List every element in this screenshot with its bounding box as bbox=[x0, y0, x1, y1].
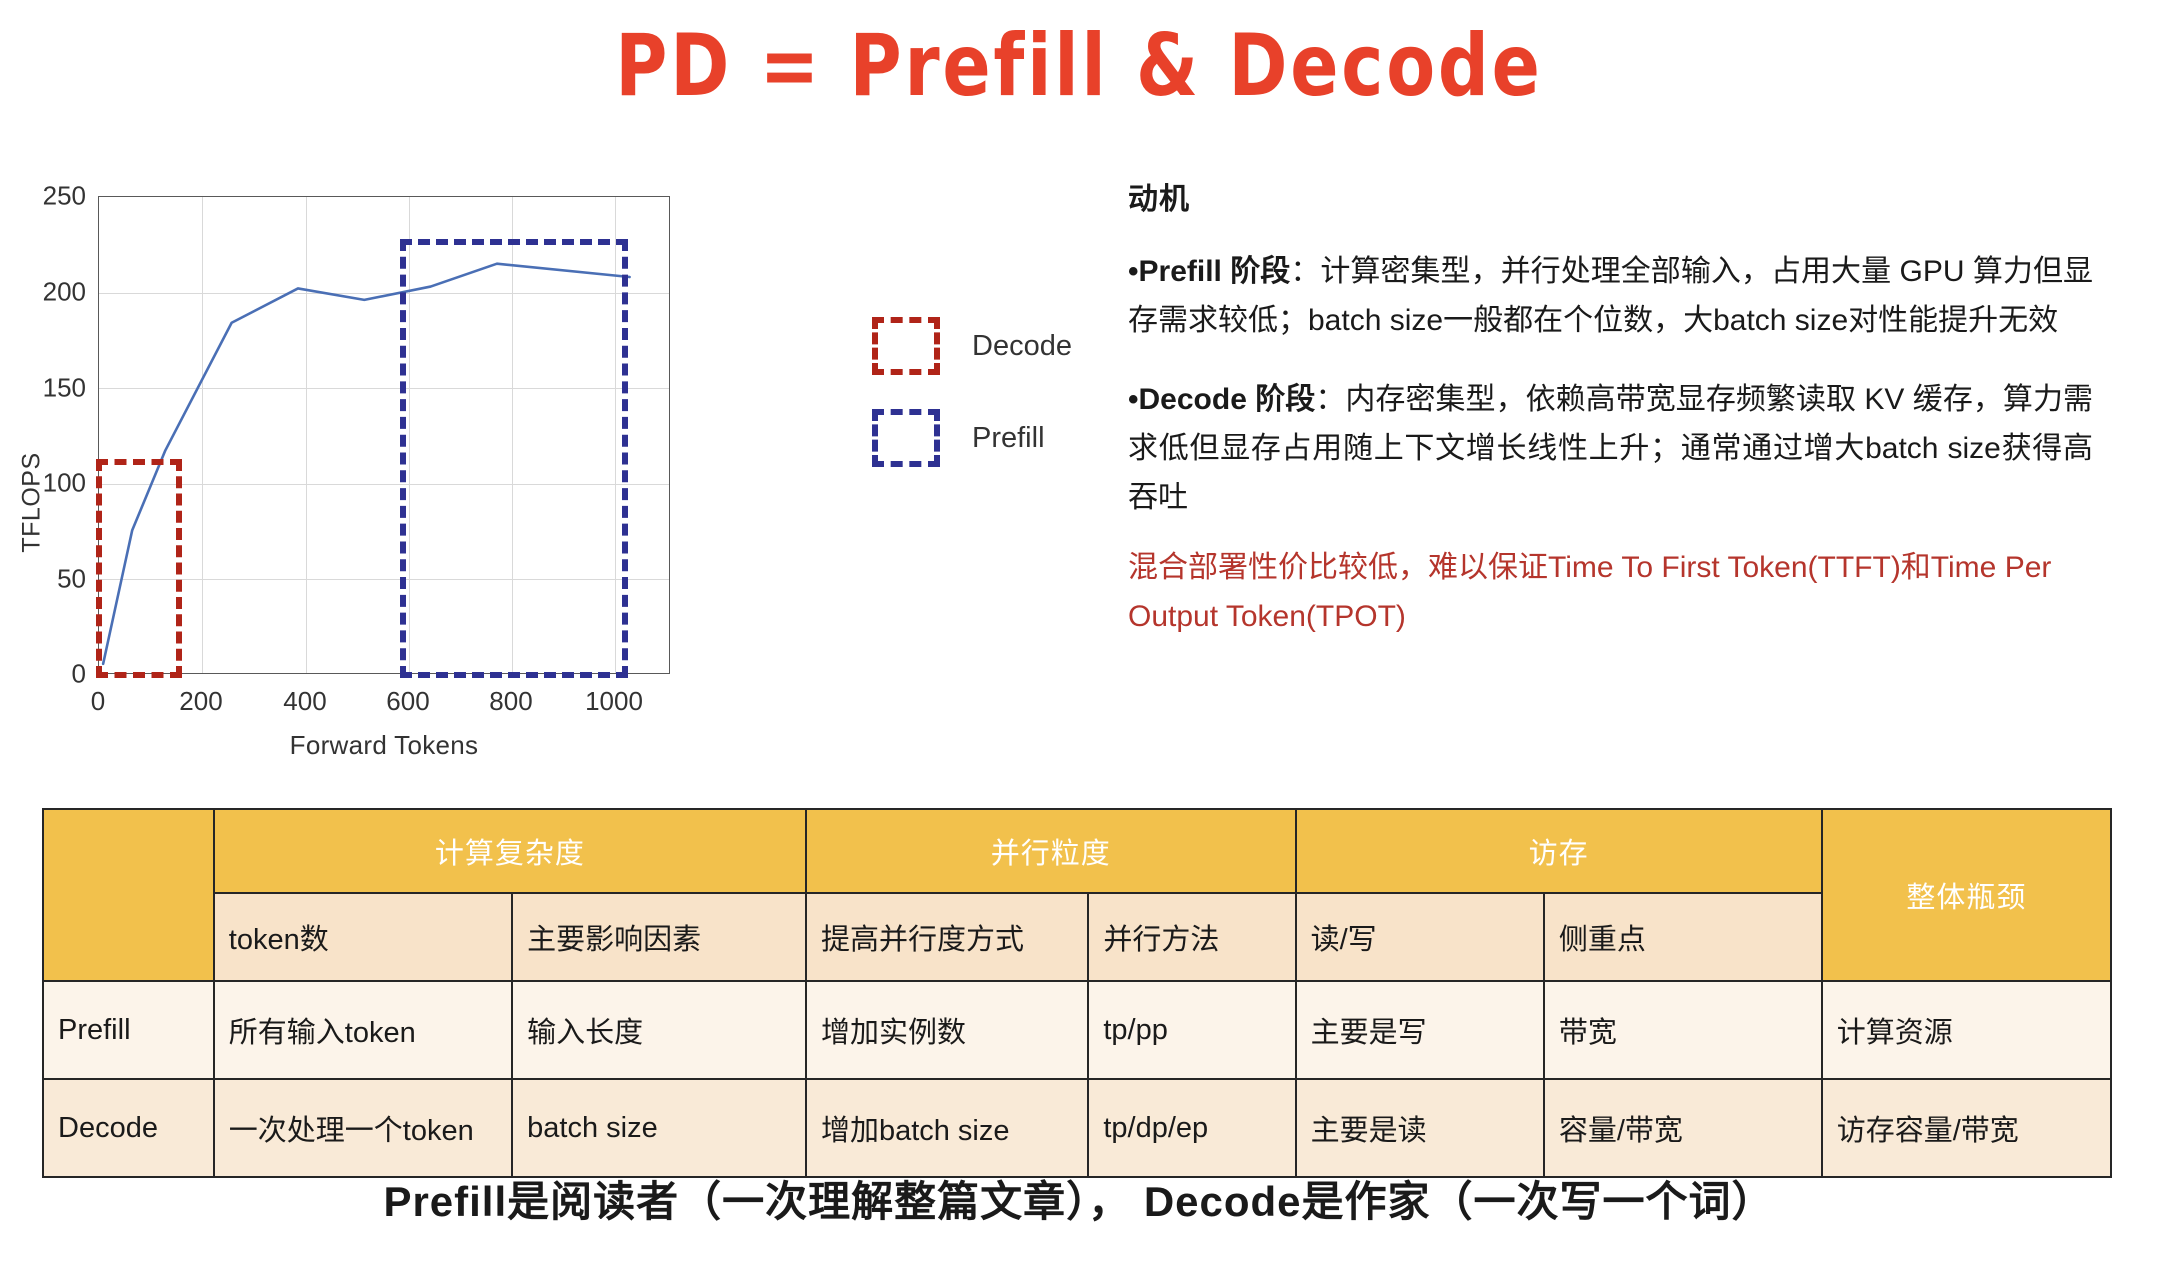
table-row: Prefill 所有输入token 输入长度 增加实例数 tp/pp 主要是写 … bbox=[43, 981, 2111, 1079]
group-header-bottleneck: 整体瓶颈 bbox=[1822, 809, 2111, 981]
bullet-prefill: •Prefill 阶段：计算密集型，并行处理全部输入，占用大量 GPU 算力但显… bbox=[1128, 248, 2093, 346]
chart-plot-area bbox=[98, 196, 670, 674]
motivation-heading: 动机 bbox=[1128, 174, 2093, 218]
sub-header-parallel-method: 并行方法 bbox=[1088, 893, 1295, 981]
x-tick-200: 200 bbox=[179, 686, 222, 717]
sub-header-focus: 侧重点 bbox=[1544, 893, 1822, 981]
group-header-parallel: 并行粒度 bbox=[806, 809, 1296, 893]
cell-decode-bottleneck: 访存容量/带宽 bbox=[1822, 1079, 2111, 1177]
x-tick-800: 800 bbox=[489, 686, 532, 717]
x-tick-400: 400 bbox=[283, 686, 326, 717]
sub-header-main-factor: 主要影响因素 bbox=[512, 893, 806, 981]
legend-label-decode: Decode bbox=[972, 330, 1072, 363]
sub-header-read-write: 读/写 bbox=[1296, 893, 1544, 981]
table-row: Decode 一次处理一个token batch size 增加batch si… bbox=[43, 1079, 2111, 1177]
cell-prefill-parallel-way: 增加实例数 bbox=[806, 981, 1088, 1079]
prefill-swatch-icon bbox=[872, 409, 940, 467]
warning-note: 混合部署性价比较低，难以保证Time To First Token(TTFT)和… bbox=[1128, 544, 2093, 642]
x-tick-0: 0 bbox=[91, 686, 105, 717]
chart-x-axis-label: Forward Tokens bbox=[98, 730, 670, 761]
cell-decode-token-count: 一次处理一个token bbox=[214, 1079, 512, 1177]
chart-y-ticks: 250 200 150 100 50 0 bbox=[20, 178, 86, 698]
prefill-decode-comparison-table: 计算复杂度 并行粒度 访存 整体瓶颈 token数 主要影响因素 提高并行度方式… bbox=[42, 808, 2112, 1178]
x-tick-1000: 1000 bbox=[585, 686, 643, 717]
chart-legend: Decode Prefill bbox=[872, 300, 1102, 484]
legend-item-decode: Decode bbox=[872, 300, 1102, 392]
cell-decode-parallel-way: 增加batch size bbox=[806, 1079, 1088, 1177]
footer-caption: Prefill是阅读者（一次理解整篇文章）， Decode是作家（一次写一个词） bbox=[0, 1168, 2158, 1229]
bullet-lead-decode: Decode 阶段 bbox=[1139, 383, 1316, 416]
y-tick-100: 100 bbox=[24, 468, 86, 499]
y-tick-200: 200 bbox=[24, 277, 86, 308]
cell-prefill-main-factor: 输入长度 bbox=[512, 981, 806, 1079]
y-tick-0: 0 bbox=[24, 659, 86, 690]
tflops-chart: TFLOPS 250 200 150 100 50 0 0 200 400 60… bbox=[20, 178, 840, 758]
decode-swatch-icon bbox=[872, 317, 940, 375]
x-tick-600: 600 bbox=[386, 686, 429, 717]
y-tick-250: 250 bbox=[24, 181, 86, 212]
cell-decode-parallel-method: tp/dp/ep bbox=[1088, 1079, 1295, 1177]
decode-highlight-box bbox=[96, 459, 182, 678]
cell-decode-main-factor: batch size bbox=[512, 1079, 806, 1177]
legend-label-prefill: Prefill bbox=[972, 422, 1045, 455]
group-header-compute: 计算复杂度 bbox=[214, 809, 806, 893]
row-label-decode: Decode bbox=[43, 1079, 214, 1177]
bullet-dot-prefill: • bbox=[1128, 255, 1139, 288]
bullet-lead-prefill: Prefill 阶段 bbox=[1139, 255, 1291, 288]
group-header-memory: 访存 bbox=[1296, 809, 1822, 893]
page-title: PD = Prefill & Decode bbox=[86, 16, 2071, 116]
y-tick-150: 150 bbox=[24, 373, 86, 404]
y-tick-50: 50 bbox=[24, 564, 86, 595]
sub-header-parallel-way: 提高并行度方式 bbox=[806, 893, 1088, 981]
prefill-highlight-box bbox=[400, 239, 628, 678]
cell-decode-focus: 容量/带宽 bbox=[1544, 1079, 1822, 1177]
table-corner-cell bbox=[43, 809, 214, 981]
motivation-section: 动机 •Prefill 阶段：计算密集型，并行处理全部输入，占用大量 GPU 算… bbox=[1128, 174, 2093, 672]
sub-header-token-count: token数 bbox=[214, 893, 512, 981]
table-sub-header-row: token数 主要影响因素 提高并行度方式 并行方法 读/写 侧重点 bbox=[43, 893, 2111, 981]
table-group-header-row: 计算复杂度 并行粒度 访存 整体瓶颈 bbox=[43, 809, 2111, 893]
cell-prefill-focus: 带宽 bbox=[1544, 981, 1822, 1079]
cell-prefill-read-write: 主要是写 bbox=[1296, 981, 1544, 1079]
legend-item-prefill: Prefill bbox=[872, 392, 1102, 484]
cell-decode-read-write: 主要是读 bbox=[1296, 1079, 1544, 1177]
bullet-dot-decode: • bbox=[1128, 383, 1139, 416]
cell-prefill-parallel-method: tp/pp bbox=[1088, 981, 1295, 1079]
cell-prefill-token-count: 所有输入token bbox=[214, 981, 512, 1079]
cell-prefill-bottleneck: 计算资源 bbox=[1822, 981, 2111, 1079]
bullet-decode: •Decode 阶段：内存密集型，依赖高带宽显存频繁读取 KV 缓存，算力需求低… bbox=[1128, 376, 2093, 523]
row-label-prefill: Prefill bbox=[43, 981, 214, 1079]
